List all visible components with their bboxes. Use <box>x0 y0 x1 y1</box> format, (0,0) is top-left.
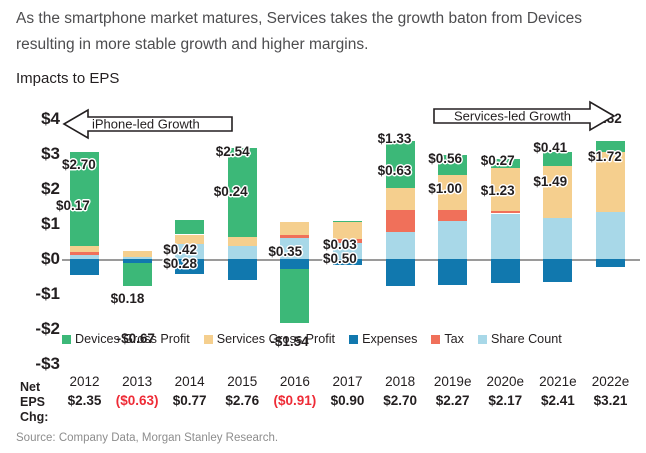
legend-label: Share Count <box>491 332 562 346</box>
chart-title: Impacts to EPS <box>16 70 119 87</box>
legend-swatch-icon <box>204 335 213 344</box>
value-label: $1.33 <box>378 131 412 146</box>
segment-exp <box>491 259 520 283</box>
legend-item[interactable]: Tax <box>431 332 464 346</box>
legend-swatch-icon <box>349 335 358 344</box>
segment-exp <box>70 259 99 275</box>
legend-swatch-icon <box>478 335 487 344</box>
legend-item[interactable]: Services Gross Profit <box>204 332 335 346</box>
segment-tax <box>438 210 467 222</box>
y-axis-tick: $4 <box>16 109 60 129</box>
legend-item[interactable]: Devices Gross Profit <box>62 332 190 346</box>
segment-exp <box>596 259 625 267</box>
segment-dev-negative <box>280 269 309 323</box>
value-label: $1.49 <box>533 174 567 189</box>
legend-label: Tax <box>444 332 464 346</box>
value-label: $0.56 <box>428 151 462 166</box>
y-axis-tick: $3 <box>16 144 60 164</box>
chart-plot-area: $4$3$2$1$0-$1-$2-$3 $2.70$0.17$0.18-$0.6… <box>0 96 646 332</box>
segment-shr <box>491 214 520 260</box>
value-label: $0.27 <box>481 153 515 168</box>
net-eps-label-line3: Chg: <box>20 410 62 425</box>
segment-exp <box>228 259 257 280</box>
value-label: $1.23 <box>481 183 515 198</box>
y-axis-tick: $1 <box>16 214 60 234</box>
segment-exp <box>280 259 309 269</box>
services-led-growth-arrow: Services-led Growth <box>432 98 616 134</box>
iphone-led-growth-arrow: iPhone-led Growth <box>62 106 234 142</box>
value-label: $0.41 <box>533 140 567 155</box>
y-axis-tick: $0 <box>16 249 60 269</box>
value-label: $0.35 <box>268 244 302 259</box>
segment-shr <box>543 218 572 259</box>
segment-shr <box>386 232 415 259</box>
legend-item[interactable]: Expenses <box>349 332 417 346</box>
segment-shr <box>228 246 257 259</box>
legend-item[interactable]: Share Count <box>478 332 562 346</box>
segment-svc <box>386 188 415 210</box>
segment-exp <box>438 259 467 285</box>
segment-exp <box>386 259 415 286</box>
y-axis-tick: -$3 <box>16 354 60 374</box>
y-axis-tick: -$2 <box>16 319 60 339</box>
legend-swatch-icon <box>431 335 440 344</box>
value-label: $0.24 <box>214 184 248 199</box>
table-eps-cell: $3.21 <box>571 393 646 408</box>
segment-exp <box>543 259 572 282</box>
segment-dev-negative <box>123 263 152 286</box>
value-label: $2.70 <box>62 157 96 172</box>
value-label: $1.00 <box>428 181 462 196</box>
value-label: $0.50 <box>323 251 357 266</box>
value-label: $0.42 <box>163 242 197 257</box>
y-axis-tick: $2 <box>16 179 60 199</box>
segment-dev <box>175 220 204 235</box>
services-led-growth-label: Services-led Growth <box>454 109 571 124</box>
value-label: $0.03 <box>323 237 357 252</box>
value-label: $2.54 <box>216 144 250 159</box>
value-label: $0.63 <box>378 163 412 178</box>
table-year-cell: 2022e <box>571 374 646 389</box>
value-label: $0.17 <box>56 198 90 213</box>
value-label: $1.72 <box>588 149 622 164</box>
segment-tax <box>386 210 415 232</box>
chart-legend: Devices Gross ProfitServices Gross Profi… <box>62 330 646 348</box>
value-label: $0.18 <box>111 291 145 306</box>
segment-shr <box>596 212 625 259</box>
segment-svc <box>228 237 257 245</box>
segment-svc <box>280 222 309 234</box>
legend-label: Devices Gross Profit <box>75 332 190 346</box>
legend-swatch-icon <box>62 335 71 344</box>
iphone-led-growth-label: iPhone-led Growth <box>92 117 200 132</box>
legend-label: Expenses <box>362 332 417 346</box>
bar-2016[interactable] <box>280 96 309 332</box>
y-axis-tick: -$1 <box>16 284 60 304</box>
segment-shr <box>438 221 467 259</box>
chart-headline: As the smartphone market matures, Servic… <box>16 6 630 58</box>
legend-label: Services Gross Profit <box>217 332 335 346</box>
source-note: Source: Company Data, Morgan Stanley Res… <box>16 432 278 444</box>
value-label: $0.28 <box>163 256 197 271</box>
bar-2017[interactable] <box>333 96 362 332</box>
